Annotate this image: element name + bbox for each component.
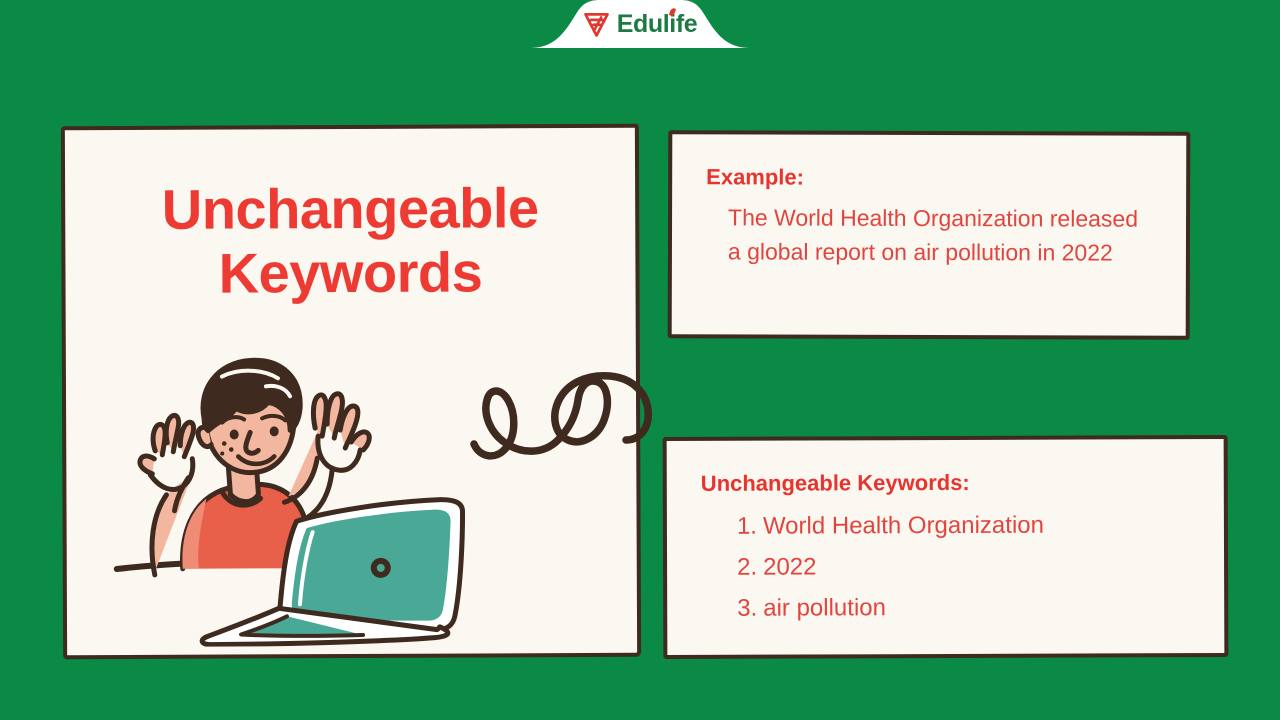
- example-card-text: The World Health Organization released a…: [706, 201, 1156, 270]
- brand-name-part2: fe: [676, 10, 697, 38]
- keywords-list-item: 1.World Health Organization: [737, 506, 1194, 548]
- example-card: Example: The World Health Organization r…: [668, 130, 1191, 340]
- keywords-list-item-number: 2.: [737, 548, 763, 589]
- example-card-content: Example: The World Health Organization r…: [672, 134, 1187, 336]
- keywords-card-content: Unchangeable Keywords: 1.World Health Or…: [667, 439, 1225, 655]
- keywords-card: Unchangeable Keywords: 1.World Health Or…: [663, 435, 1229, 659]
- title-card: Unchangeable Keywords: [61, 124, 641, 660]
- keywords-list-item: 3.air pollution: [737, 587, 1194, 629]
- brand-name-part1: Edul: [617, 10, 670, 38]
- example-card-label: Example:: [706, 164, 1156, 192]
- edulife-logo-icon: [583, 11, 610, 38]
- person-waving-at-laptop-illustration: [110, 345, 481, 647]
- keywords-list-item: 2.2022: [737, 546, 1194, 588]
- page-title-line-1: Unchangeable: [81, 176, 619, 242]
- page-title: Unchangeable Keywords: [65, 176, 636, 306]
- keywords-list-item-text: World Health Organization: [763, 506, 1044, 548]
- keywords-card-label: Unchangeable Keywords:: [701, 469, 1194, 497]
- page-title-line-2: Keywords: [81, 240, 619, 306]
- keywords-list-item-text: 2022: [763, 548, 817, 589]
- brand-name-accent-i: i: [669, 10, 676, 38]
- keywords-list-item-text: air pollution: [763, 588, 886, 629]
- brand-logo-tab: Edulife: [530, 0, 750, 48]
- brand-name: Edulife: [617, 12, 698, 37]
- keywords-list-item-number: 1.: [737, 507, 763, 548]
- keywords-list: 1.World Health Organization2.20223.air p…: [701, 506, 1194, 630]
- keywords-list-item-number: 3.: [737, 589, 763, 630]
